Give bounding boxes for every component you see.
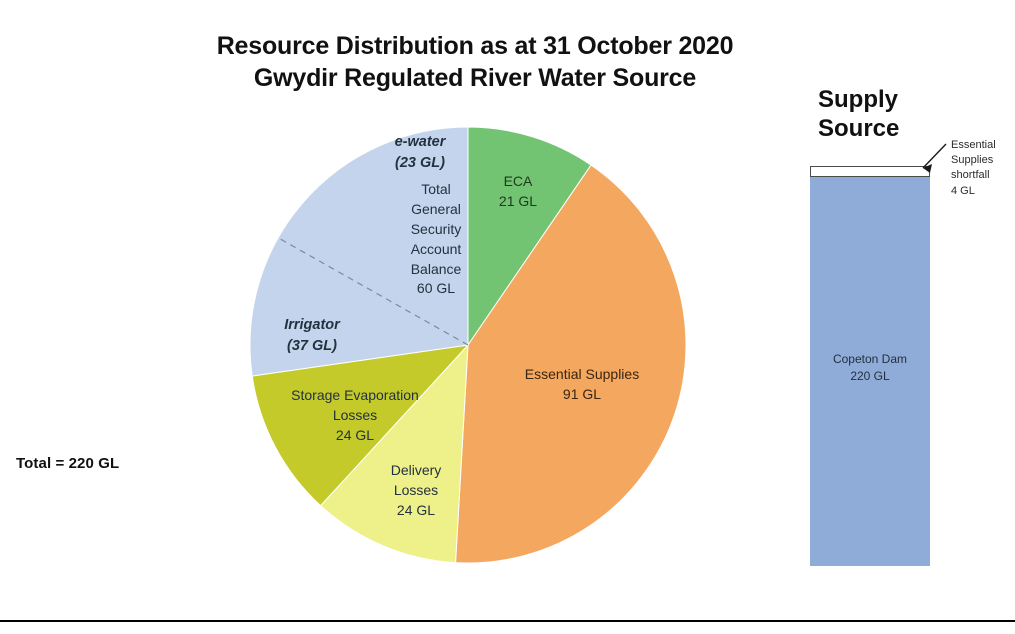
pie-slice-total-general-security-account-balance — [250, 127, 468, 376]
supply-source-heading: Supply Source — [818, 86, 978, 144]
annotation-line-4: 4 GL — [951, 184, 1011, 199]
bar-segment-shortfall — [810, 166, 930, 177]
bar-label-copeton-dam: Copeton Dam 220 GL — [810, 351, 930, 386]
bottom-divider — [0, 620, 1015, 622]
slide-canvas: Resource Distribution as at 31 October 2… — [0, 0, 1015, 634]
shortfall-annotation: Essential Supplies shortfall 4 GL — [951, 138, 1011, 199]
bar-label-line-2: 220 GL — [850, 369, 889, 383]
total-label: Total = 220 GL — [16, 455, 119, 472]
supply-heading-line-1: Supply — [818, 86, 898, 113]
annotation-line-2: Supplies — [951, 153, 1011, 168]
bar-label-line-1: Copeton Dam — [833, 352, 907, 366]
annotation-line-3: shortfall — [951, 168, 1011, 183]
annotation-line-1: Essential — [951, 138, 1011, 153]
